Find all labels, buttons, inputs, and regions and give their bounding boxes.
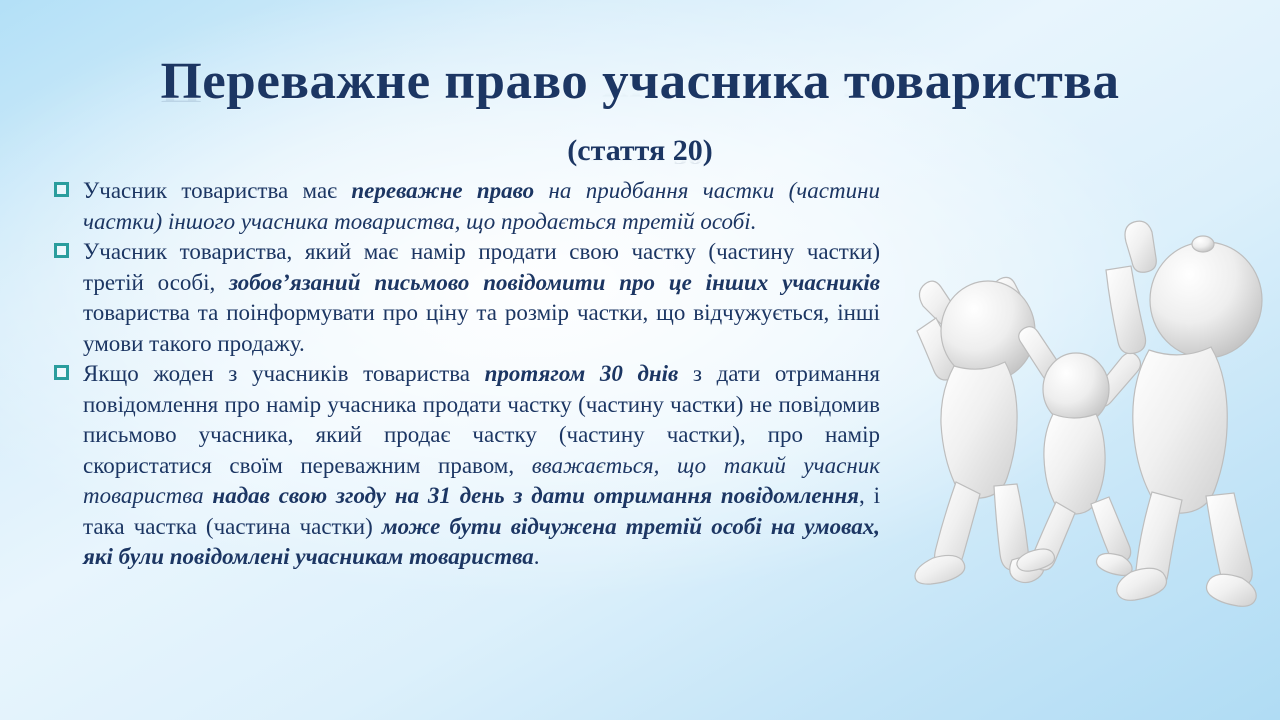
list-item: Учасник товариства має переважне право н…	[52, 176, 880, 237]
list-item: Учасник товариства, який має намір прода…	[52, 237, 880, 359]
bullet-square-icon	[54, 182, 69, 197]
text-run-3: товариства та поінформувати про ціну та …	[83, 300, 880, 356]
list-item: Якщо жоден з учасників товариства протяг…	[52, 359, 880, 573]
bullet-square-icon	[54, 243, 69, 258]
page-subtitle: (стаття 20)	[0, 136, 1280, 166]
slide-title-block: Переважне право учасника товариства Пере…	[0, 56, 1280, 183]
figure-left	[915, 277, 1044, 584]
bullet-2-text: Учасник товариства, який має намір прода…	[83, 237, 880, 359]
text-run-1: Якщо жоден з учасників товариства	[83, 361, 485, 386]
bullet-square-icon	[54, 365, 69, 380]
three-figures-illustration	[876, 214, 1276, 634]
text-run-8: .	[534, 544, 540, 569]
text-run-2: переважне право	[351, 178, 534, 203]
page-title: Переважне право учасника товариства	[0, 56, 1280, 108]
slide-canvas: Переважне право учасника товариства Пере…	[0, 0, 1280, 720]
figure-center	[1017, 327, 1141, 576]
slide-body: Учасник товариства має переважне право н…	[52, 176, 880, 573]
title-main-wrap: Переважне право учасника товариства Пере…	[0, 56, 1280, 136]
text-run-2: зобов’язаний письмово повідомити про це …	[229, 270, 880, 295]
text-run-1: Учасник товариства має	[83, 178, 351, 203]
bullet-1-text: Учасник товариства має переважне право н…	[83, 176, 880, 237]
bullet-3-text: Якщо жоден з учасників товариства протяг…	[83, 359, 880, 573]
text-run-2: протягом 30 днів	[485, 361, 679, 386]
text-run-5: надав свою згоду на 31 день з дати отрим…	[212, 483, 859, 508]
